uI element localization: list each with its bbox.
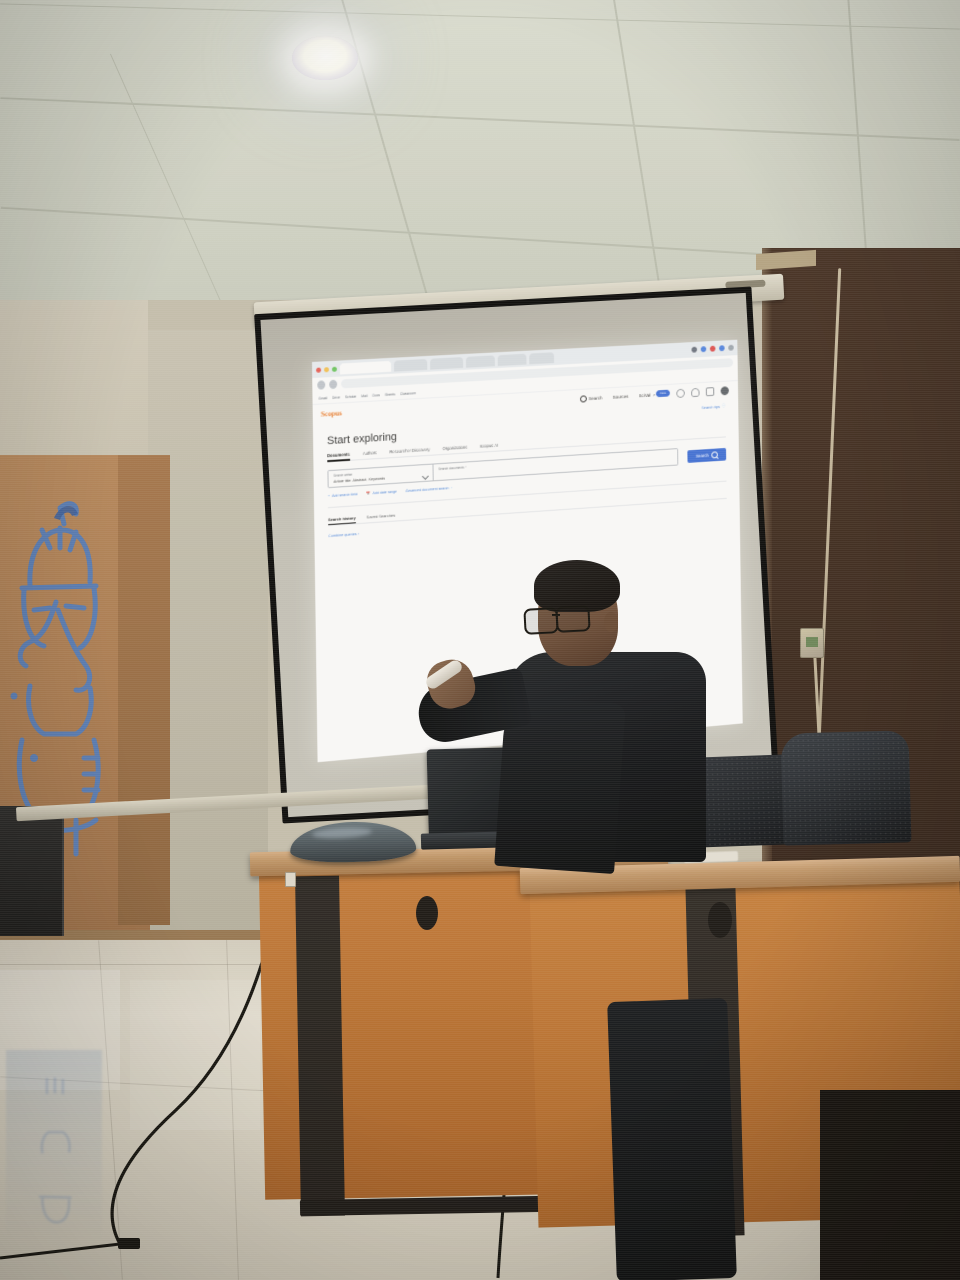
scopus-main: Search tips ⓘ Start exploring Documents … xyxy=(313,394,740,538)
floor-mural-reflection xyxy=(6,1050,102,1240)
desk-leg xyxy=(295,876,345,1217)
ceiling-light xyxy=(292,36,358,80)
new-badge: New xyxy=(656,390,670,397)
info-icon: ⓘ xyxy=(722,403,726,409)
nav-label: SciVal xyxy=(639,393,651,399)
bookmark-item[interactable]: Sheets xyxy=(385,392,395,397)
office-chair xyxy=(781,730,912,845)
dark-corner xyxy=(820,1090,960,1280)
nav-item-search[interactable]: Search xyxy=(580,394,602,402)
add-date-range-link[interactable]: 📅 Add date range xyxy=(366,490,397,496)
desk-cable-hole xyxy=(416,896,438,930)
tab-authors[interactable]: Authors xyxy=(363,450,377,456)
nav-label: Search xyxy=(589,395,603,401)
external-link-icon: ↗ xyxy=(652,393,655,397)
left-upper-wall xyxy=(0,300,148,470)
search-tips-label: Search tips xyxy=(701,404,719,410)
add-search-field-link[interactable]: + Add search field xyxy=(328,492,358,498)
tab-researcher-discovery[interactable]: Researcher Discovery xyxy=(390,447,430,454)
link-label: Add search field xyxy=(332,492,358,498)
glasses-lens-right xyxy=(555,605,590,633)
power-outlet[interactable] xyxy=(285,872,296,887)
glasses-bridge xyxy=(552,614,560,616)
browser-tab[interactable] xyxy=(394,358,427,371)
browser-extension-icons[interactable] xyxy=(691,345,733,353)
search-documents-label: Search documents * xyxy=(438,452,672,471)
bookmark-item[interactable]: Docs xyxy=(372,393,380,397)
bookmark-item[interactable]: Mail xyxy=(361,393,367,397)
left-brown-wall-panel-2 xyxy=(118,455,170,925)
combine-queries-label: Combine queries xyxy=(328,532,356,538)
link-label: Add date range xyxy=(373,490,397,496)
browser-tab[interactable] xyxy=(430,357,463,370)
plus-icon: + xyxy=(328,494,330,498)
tab-scopus-ai[interactable]: Scopus AI xyxy=(480,443,498,449)
chevron-right-icon: › xyxy=(358,532,359,536)
presenter-hair xyxy=(534,560,620,612)
search-button-label: Search xyxy=(696,452,709,458)
search-icon xyxy=(711,451,718,458)
glasses-lens-left xyxy=(523,607,558,635)
bookmark-item[interactable]: Scholar xyxy=(345,394,356,399)
browser-tab[interactable] xyxy=(340,360,391,374)
nav-item-scival[interactable]: SciVal ↗ xyxy=(639,392,655,398)
star-icon[interactable] xyxy=(710,346,716,352)
menu-icon[interactable] xyxy=(728,345,734,351)
tab-organizations[interactable]: Organizations xyxy=(442,445,467,451)
browser-tab[interactable] xyxy=(466,355,495,367)
bookmark-item[interactable]: Classroom xyxy=(400,391,416,396)
nav-label: Sources xyxy=(613,394,629,400)
tab-documents[interactable]: Documents xyxy=(327,452,350,458)
shield-icon[interactable] xyxy=(701,346,707,352)
browser-tab[interactable] xyxy=(529,352,554,364)
browser-tab[interactable] xyxy=(498,353,527,365)
wall-switch[interactable] xyxy=(800,628,824,658)
search-within-select[interactable]: Search within Article title, Abstract, K… xyxy=(327,464,433,489)
puzzle-icon[interactable] xyxy=(691,347,697,353)
presenter xyxy=(500,560,720,860)
room-photo-scene: Gmail Drive Scholar Mail Docs Sheets Cla… xyxy=(0,0,960,1280)
link-label: Advanced document search xyxy=(405,486,448,493)
calendar-icon: 📅 xyxy=(366,491,370,495)
chevron-right-icon: › xyxy=(451,486,452,490)
bookmark-item[interactable]: Gmail xyxy=(318,396,327,400)
advanced-document-search-link[interactable]: Advanced document search › xyxy=(405,486,452,493)
floor-speaker-box xyxy=(0,806,64,936)
desk-cable-hole xyxy=(708,902,732,938)
search-button[interactable]: Search xyxy=(687,447,726,462)
tab-search-history[interactable]: Search history xyxy=(328,515,356,522)
profile-icon[interactable] xyxy=(719,345,725,351)
office-chair xyxy=(607,998,737,1280)
nav-item-sources[interactable]: Sources xyxy=(613,394,629,400)
tab-saved-searches[interactable]: Saved Searches xyxy=(366,512,395,519)
presenter-ear xyxy=(604,612,618,632)
bookmark-item[interactable]: Drive xyxy=(332,395,340,399)
search-icon xyxy=(580,395,587,402)
